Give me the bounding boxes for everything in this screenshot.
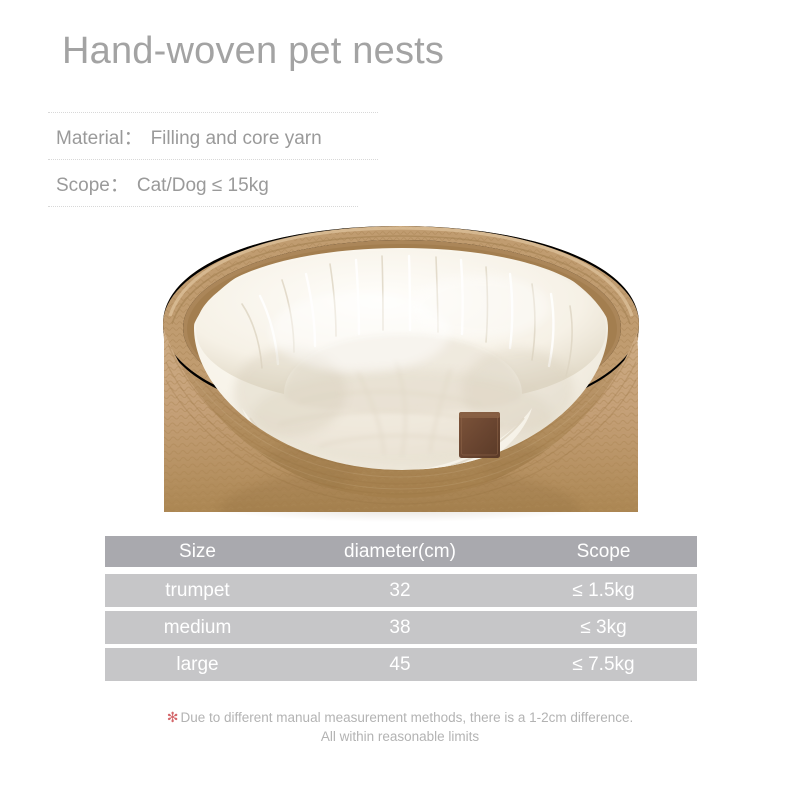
spec-row-scope: Scope： Cat/Dog ≤ 15kg: [48, 160, 378, 206]
footnote-line-1: Due to different manual measurement meth…: [180, 710, 633, 725]
table-header-size: Size: [105, 541, 290, 563]
cell-diameter: 38: [290, 617, 510, 639]
table-row: medium 38 ≤ 3kg: [105, 611, 697, 644]
cell-scope: ≤ 3kg: [510, 617, 697, 639]
table-row: trumpet 32 ≤ 1.5kg: [105, 574, 697, 607]
table-header-scope: Scope: [510, 541, 697, 563]
table-header-row: Size diameter(cm) Scope: [105, 536, 697, 567]
spec-value-scope: Cat/Dog ≤ 15kg: [137, 175, 269, 197]
table-row: large 45 ≤ 7.5kg: [105, 648, 697, 681]
cell-size: medium: [105, 617, 290, 639]
cell-size: trumpet: [105, 580, 290, 602]
size-table: Size diameter(cm) Scope trumpet 32 ≤ 1.5…: [105, 536, 697, 685]
cell-diameter: 45: [290, 654, 510, 676]
pet-nest-illustration: [150, 212, 650, 522]
asterisk-icon: ✻: [167, 709, 179, 725]
cell-scope: ≤ 7.5kg: [510, 654, 697, 676]
leather-tag: [459, 412, 500, 458]
spec-divider-bottom: [48, 206, 358, 207]
spec-value-material: Filling and core yarn: [151, 128, 322, 150]
spec-label-scope: Scope：: [56, 170, 129, 197]
cell-scope: ≤ 1.5kg: [510, 580, 697, 602]
cell-diameter: 32: [290, 580, 510, 602]
page-title: Hand-woven pet nests: [62, 30, 444, 73]
table-header-diameter: diameter(cm): [290, 541, 510, 563]
footnote: ✻Due to different manual measurement met…: [0, 708, 800, 746]
product-photo: [150, 212, 650, 522]
spec-label-material: Material：: [56, 123, 143, 150]
cell-size: large: [105, 654, 290, 676]
spec-row-material: Material： Filling and core yarn: [48, 113, 378, 159]
specification-block: Material： Filling and core yarn Scope： C…: [48, 112, 378, 207]
footnote-line-2: All within reasonable limits: [0, 727, 800, 746]
